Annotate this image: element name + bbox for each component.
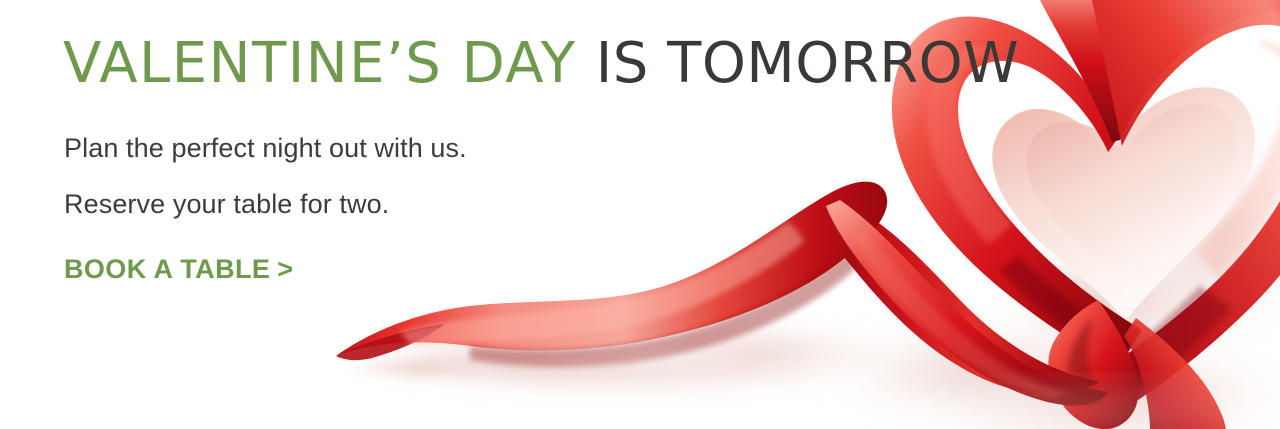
cta-label: BOOK A TABLE [64,254,270,284]
banner-content: VALENTINE’S DAY IS TOMORROW Plan the per… [0,0,700,429]
page-title: VALENTINE’S DAY IS TOMORROW [63,33,1019,95]
heart-inner-cavity [992,87,1254,322]
valentines-promo-banner: VALENTINE’S DAY IS TOMORROW Plan the per… [0,0,1280,429]
body-line-2: Reserve your table for two. [64,189,389,219]
book-a-table-link[interactable]: BOOK A TABLE> [64,253,293,285]
heart-bottom-twist [1048,300,1226,429]
heart-right-lobe [1040,0,1280,400]
body-line-1: Plan the perfect night out with us. [64,133,467,163]
headline-rest: IS TOMORROW [596,31,1019,96]
chevron-right-icon: > [277,253,293,285]
headline-highlight: VALENTINE’S DAY [63,31,576,96]
